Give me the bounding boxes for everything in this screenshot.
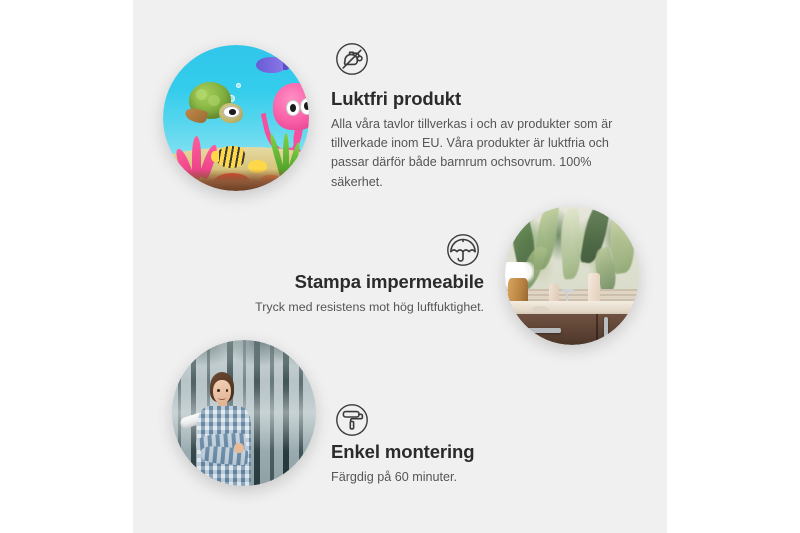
feature-title: Stampa impermeabile: [222, 271, 484, 293]
soap-dish-icon: [532, 306, 549, 313]
underwater-scene: [163, 45, 309, 191]
blue-fish-icon: [256, 57, 285, 73]
woman-figure: [189, 372, 270, 486]
bathroom-scene: [505, 206, 639, 345]
feature-body: Färgdig på 60 minuter.: [331, 468, 611, 487]
sea-floor-shadow: [163, 169, 309, 191]
cabinet-handle: [604, 317, 608, 341]
forest-mural-scene: [172, 340, 316, 486]
umbrella-icon: [442, 229, 484, 271]
feature-body: Alla våra tavlor tillverkas i och av pro…: [331, 115, 631, 192]
photo-painter: [172, 340, 316, 486]
photo-painter-image: [172, 340, 316, 486]
feature-waterproof: Stampa impermeabile Tryck med resistens …: [222, 229, 484, 317]
infographic-canvas: Luktfri produkt Alla våra tavlor tillver…: [0, 0, 800, 533]
yellow-fish-icon: [216, 146, 245, 168]
feature-odour-free: Luktfri produkt Alla våra tavlor tillver…: [331, 38, 631, 192]
photo-underwater: [163, 45, 309, 191]
photo-bathroom: [505, 206, 639, 345]
feature-easy-mounting: Enkel montering Färgdig på 60 minuter.: [331, 399, 611, 487]
paint-roller-icon: [331, 399, 373, 441]
feature-title: Enkel montering: [331, 441, 611, 463]
feature-body: Tryck med resistens mot hög luftfuktighe…: [222, 298, 484, 317]
photo-bathroom-image: [505, 206, 639, 345]
photo-underwater-image: [163, 45, 309, 191]
sea-turtle-icon: [183, 80, 247, 130]
feature-title: Luktfri produkt: [331, 88, 631, 110]
cabinet-handle: [526, 328, 561, 333]
no-odour-icon: [331, 38, 373, 80]
